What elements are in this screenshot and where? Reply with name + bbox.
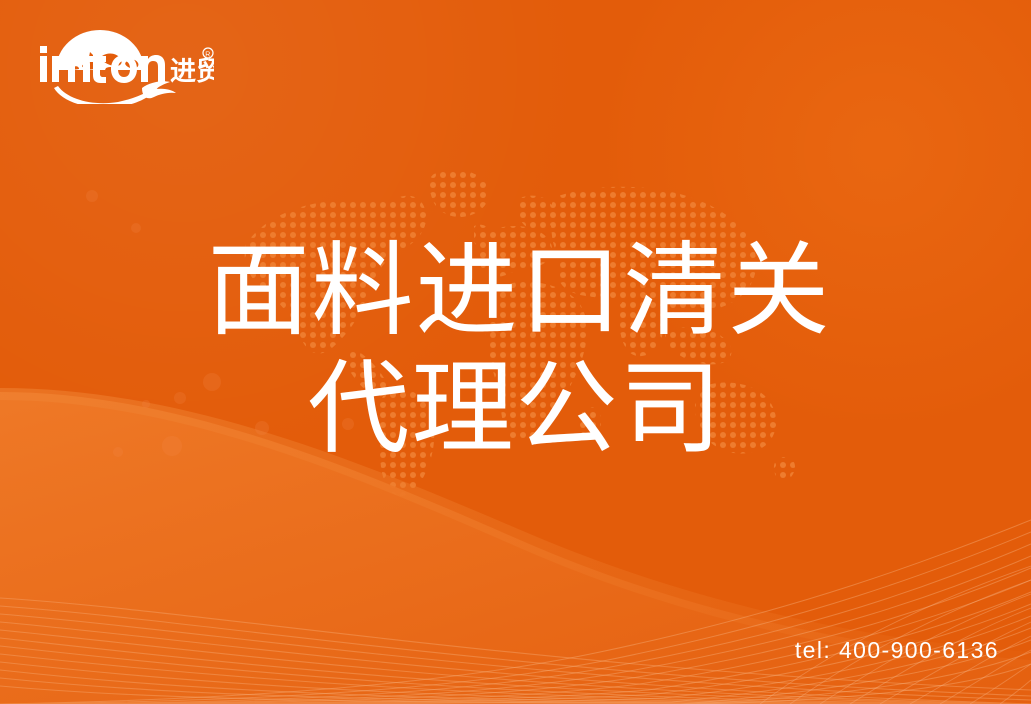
logo-chinese-name: 进贸通 bbox=[170, 57, 214, 87]
contact-phone[interactable]: tel: 400-900-6136 bbox=[795, 637, 999, 664]
promo-banner: 进贸通 R 面料进口清关 代理公司 tel: 400-900-6136 bbox=[0, 0, 1031, 704]
headline-line-2: 代理公司 bbox=[0, 350, 1031, 468]
trademark-letter: R bbox=[205, 51, 210, 58]
headline-line-1: 面料进口清关 bbox=[0, 232, 1031, 350]
brand-logo[interactable]: 进贸通 R bbox=[34, 26, 214, 104]
page-title: 面料进口清关 代理公司 bbox=[0, 232, 1031, 468]
swoosh-icon bbox=[54, 81, 176, 104]
svg-text:进贸通: 进贸通 bbox=[170, 57, 214, 87]
